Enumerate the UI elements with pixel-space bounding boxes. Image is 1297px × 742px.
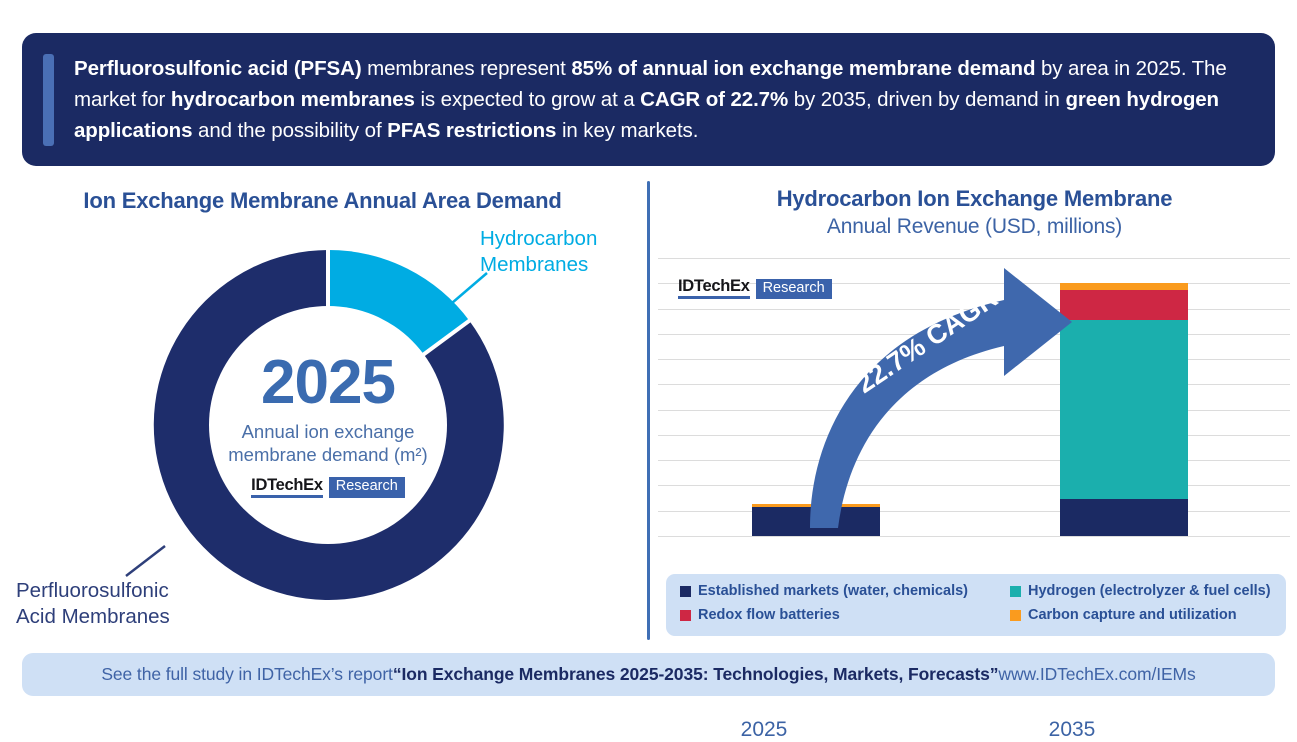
header-fragment-1: membranes represent — [362, 57, 572, 80]
bar-column-2025[interactable] — [752, 504, 880, 536]
callout-pfsa-line2: Acid Membranes — [16, 604, 246, 630]
callout-hydrocarbon-line1: Hydrocarbon — [480, 226, 645, 252]
donut-hole — [209, 306, 447, 544]
right-panel-bar-chart: Hydrocarbon Ion Exchange Membrane Annual… — [652, 178, 1297, 648]
bar-segment-2035-0[interactable] — [1060, 499, 1188, 536]
panel-divider — [647, 181, 650, 640]
legend-item-established-markets[interactable]: Established markets (water, chemicals) — [680, 583, 1010, 599]
callout-pfsa-line1: Perfluorosulfonic — [16, 578, 246, 604]
header-statement: Perfluorosulfonic acid (PFSA) membranes … — [74, 53, 1257, 146]
header-accent-bar — [43, 54, 54, 146]
header-fragment-2: 85% of annual ion exchange membrane dema… — [571, 57, 1035, 80]
bar-segment-2035-1[interactable] — [1060, 320, 1188, 499]
legend-label-redox-flow-batteries: Redox flow batteries — [698, 607, 840, 623]
bar-segment-2025-0[interactable] — [752, 507, 880, 536]
legend-label-hydrogen: Hydrogen (electrolyzer & fuel cells) — [1028, 583, 1271, 599]
gridline-11 — [658, 536, 1290, 537]
legend-item-hydrogen[interactable]: Hydrogen (electrolyzer & fuel cells) — [1010, 583, 1271, 599]
header-fragment-11: in key markets. — [556, 119, 698, 142]
x-axis-label-2035: 2035 — [972, 718, 1172, 742]
legend-swatch-redox-flow-batteries — [680, 610, 691, 621]
header-fragment-6: CAGR of 22.7% — [640, 88, 788, 111]
footer-cta[interactable]: See the full study in IDTechEx’s report … — [22, 653, 1275, 696]
bar-chart-title-line1: Hydrocarbon Ion Exchange Membrane — [652, 186, 1297, 212]
header-fragment-4: hydrocarbon membranes — [171, 88, 415, 111]
header-fragment-10: PFAS restrictions — [387, 119, 556, 142]
callout-hydrocarbon-line2: Membranes — [480, 252, 645, 278]
x-axis-label-2025: 2025 — [664, 718, 864, 742]
donut-chart-title: Ion Exchange Membrane Annual Area Demand — [0, 188, 645, 214]
left-panel-donut-chart: Ion Exchange Membrane Annual Area Demand… — [0, 178, 645, 648]
callout-hydrocarbon-membranes: Hydrocarbon Membranes — [480, 226, 645, 278]
legend-row-1: Established markets (water, chemicals) H… — [680, 583, 1272, 607]
bar-column-2035[interactable] — [1060, 283, 1188, 536]
legend-row-2: Redox flow batteries Carbon capture and … — [680, 607, 1272, 631]
header-banner: Perfluorosulfonic acid (PFSA) membranes … — [22, 33, 1275, 166]
legend-swatch-carbon-capture — [1010, 610, 1021, 621]
header-fragment-7: by 2035, driven by demand in — [788, 88, 1065, 111]
bar-chart-bars — [658, 258, 1290, 536]
donut-chart — [133, 230, 523, 620]
donut-svg — [133, 230, 523, 620]
legend-swatch-hydrogen — [1010, 586, 1021, 597]
bar-chart-legend: Established markets (water, chemicals) H… — [666, 574, 1286, 636]
footer-url: www.IDTechEx.com/IEMs — [998, 664, 1195, 685]
legend-item-redox-flow-batteries[interactable]: Redox flow batteries — [680, 607, 1010, 623]
callout-pfsa-membranes: Perfluorosulfonic Acid Membranes — [16, 578, 246, 630]
header-fragment-9: and the possibility of — [192, 119, 387, 142]
legend-label-carbon-capture: Carbon capture and utilization — [1028, 607, 1237, 623]
bar-segment-2035-2[interactable] — [1060, 290, 1188, 320]
footer-prefix: See the full study in IDTechEx’s report — [101, 664, 392, 685]
legend-label-established-markets: Established markets (water, chemicals) — [698, 583, 968, 599]
bar-chart-title-line2: Annual Revenue (USD, millions) — [652, 215, 1297, 239]
footer-report-title: “Ion Exchange Membranes 2025-2035: Techn… — [393, 664, 999, 685]
legend-swatch-established-markets — [680, 586, 691, 597]
legend-item-carbon-capture[interactable]: Carbon capture and utilization — [1010, 607, 1237, 623]
header-fragment-5: is expected to grow at a — [415, 88, 640, 111]
header-fragment-0: Perfluorosulfonic acid (PFSA) — [74, 57, 362, 80]
